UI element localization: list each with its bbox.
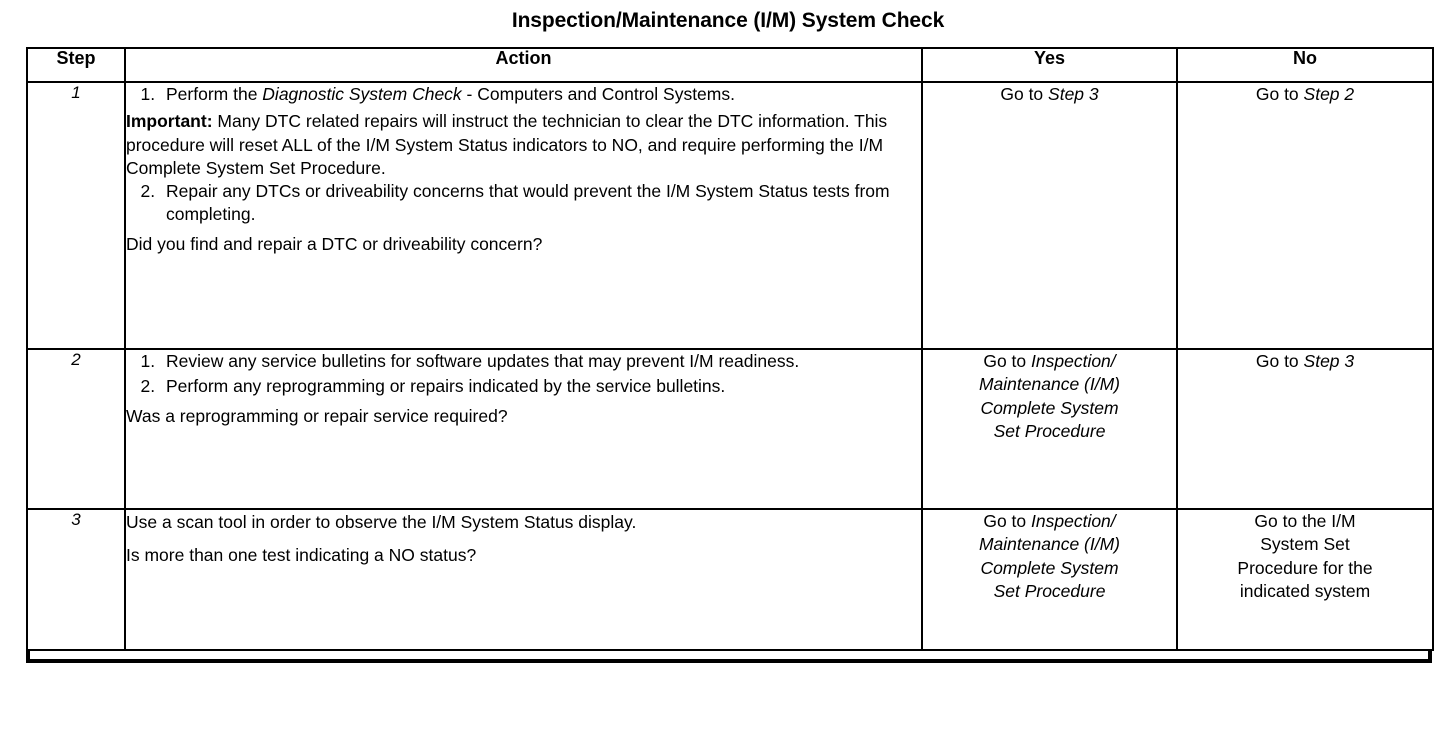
page-title: Inspection/Maintenance (I/M) System Chec… [0,9,1456,33]
step-number: 2 [27,349,125,509]
action-cell: Use a scan tool in order to observe the … [125,509,922,650]
list-item: Perform the Diagnostic System Check - Co… [160,83,921,106]
goto-target: Step 2 [1304,84,1355,104]
column-header-step: Step [27,48,125,82]
no-answer-cell: Go to Step 2 [1177,82,1433,349]
table-frame-bottom [26,659,1432,663]
table-row: 2 Review any service bulletins for softw… [27,349,1433,509]
goto-target: Step 3 [1048,84,1099,104]
goto-target: Step 3 [1304,351,1355,371]
yes-answer-cell: Go to Inspection/ Maintenance (I/M) Comp… [922,509,1177,650]
goto-target-line: Maintenance (I/M) [923,373,1176,396]
action-question: Was a reprogramming or repair service re… [126,405,921,428]
no-answer-cell: Go to Step 3 [1177,349,1433,509]
step-number: 3 [27,509,125,650]
list-item-text: Perform any reprogramming or repairs ind… [166,376,725,396]
column-header-yes: Yes [922,48,1177,82]
list-item-text-before-italic: Perform the [166,84,262,104]
goto-prefix: Go to [1256,351,1304,371]
goto-target-line: Set Procedure [923,420,1176,443]
goto-prefix: Go to [1256,84,1304,104]
goto-prefix: Go to [1000,84,1048,104]
list-item: Perform any reprogramming or repairs ind… [160,375,921,398]
table-row: 3 Use a scan tool in order to observe th… [27,509,1433,650]
yes-answer-text: Go to Step 3 [1000,84,1098,104]
no-answer-line: System Set [1178,533,1432,556]
step-number: 1 [27,82,125,349]
list-item-text: Review any service bulletins for softwar… [166,351,799,371]
yes-answer-cell: Go to Step 3 [922,82,1177,349]
action-ordered-list-second: Repair any DTCs or driveability concerns… [126,180,921,227]
action-cell: Review any service bulletins for softwar… [125,349,922,509]
action-question: Did you find and repair a DTC or driveab… [126,233,921,256]
list-item: Review any service bulletins for softwar… [160,350,921,373]
action-question: Is more than one test indicating a NO st… [126,544,921,567]
column-header-no: No [1177,48,1433,82]
yes-answer-line: Go to Inspection/ [923,350,1176,373]
table-row: 1 Perform the Diagnostic System Check - … [27,82,1433,349]
important-label: Important: [126,111,213,131]
list-item: Repair any DTCs or driveability concerns… [160,180,921,227]
action-ordered-list: Perform the Diagnostic System Check - Co… [126,83,921,106]
yes-answer-cell: Go to Inspection/ Maintenance (I/M) Comp… [922,349,1177,509]
document-page: Inspection/Maintenance (I/M) System Chec… [0,0,1456,734]
goto-target-line: Inspection/ [1031,511,1116,531]
goto-prefix: Go to [983,351,1031,371]
yes-answer-line: Go to Inspection/ [923,510,1176,533]
action-cell: Perform the Diagnostic System Check - Co… [125,82,922,349]
procedure-reference: Diagnostic System Check [262,84,461,104]
goto-target-line: Set Procedure [923,580,1176,603]
goto-target-line: Inspection/ [1031,351,1116,371]
important-note: Important: Many DTC related repairs will… [126,110,921,180]
no-answer-line: Procedure for the [1178,557,1432,580]
goto-target-line: Complete System [923,397,1176,420]
important-text: Many DTC related repairs will instruct t… [126,111,887,178]
goto-target-line: Complete System [923,557,1176,580]
im-system-check-table: Step Action Yes No 1 Perform the Diagnos… [26,47,1434,651]
no-answer-text: Go to Step 3 [1256,351,1354,371]
action-statement: Use a scan tool in order to observe the … [126,511,921,534]
goto-prefix: Go to [983,511,1031,531]
no-answer-text: Go to Step 2 [1256,84,1354,104]
no-answer-cell: Go to the I/M System Set Procedure for t… [1177,509,1433,650]
list-item-text: Repair any DTCs or driveability concerns… [166,181,890,224]
action-ordered-list: Review any service bulletins for softwar… [126,350,921,399]
goto-target-line: Maintenance (I/M) [923,533,1176,556]
table-header-row: Step Action Yes No [27,48,1433,82]
no-answer-line: indicated system [1178,580,1432,603]
list-item-text-after-italic: - Computers and Control Systems. [462,84,735,104]
no-answer-line: Go to the I/M [1178,510,1432,533]
column-header-action: Action [125,48,922,82]
